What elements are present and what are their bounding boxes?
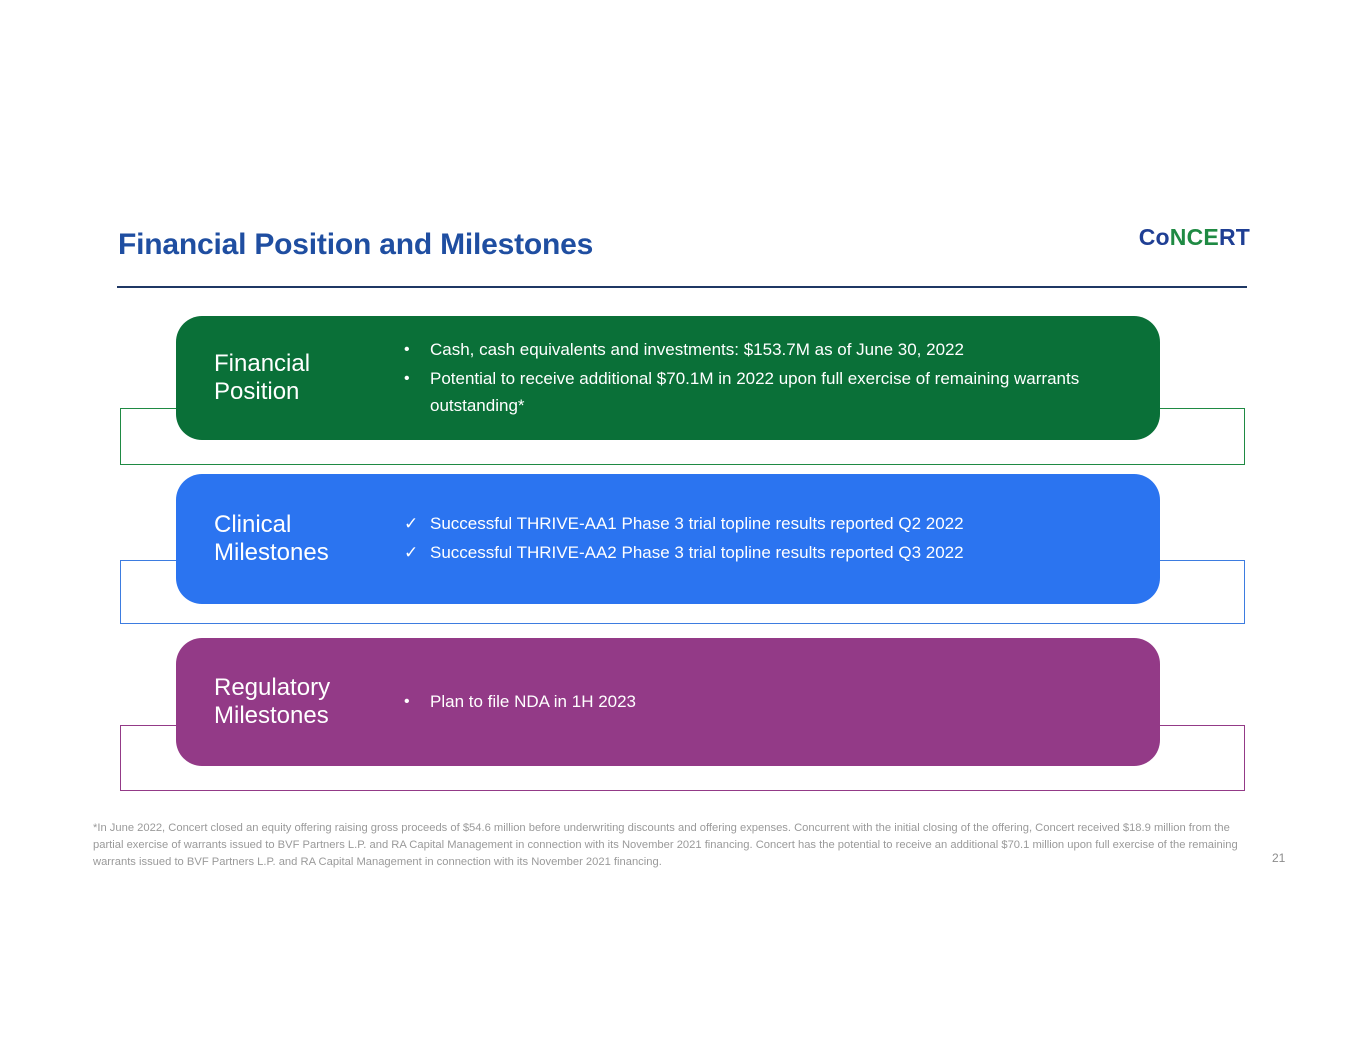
bullet-text: Successful THRIVE-AA1 Phase 3 trial topl… (430, 510, 1134, 537)
bullet-dot-icon: • (404, 688, 430, 715)
panel-card-regulatory-milestones: Regulatory Milestones • Plan to file NDA… (176, 638, 1160, 766)
list-item: ✓ Successful THRIVE-AA2 Phase 3 trial to… (404, 539, 1134, 566)
checkmark-icon: ✓ (404, 539, 430, 566)
panel-heading-financial-position: Financial Position (176, 350, 404, 406)
panel-card-financial-position: Financial Position • Cash, cash equivale… (176, 316, 1160, 440)
bullet-text: Potential to receive additional $70.1M i… (430, 365, 1134, 419)
panel-heading-line-2: Milestones (214, 702, 404, 730)
slide-canvas: Financial Position and Milestones CoNCER… (0, 0, 1365, 1055)
bullet-dot-icon: • (404, 336, 430, 363)
page-number: 21 (1272, 851, 1285, 865)
bullet-text: Successful THRIVE-AA2 Phase 3 trial topl… (430, 539, 1134, 566)
panel-heading-clinical-milestones: Clinical Milestones (176, 511, 404, 567)
panel-heading-regulatory-milestones: Regulatory Milestones (176, 674, 404, 730)
bullet-dot-icon: • (404, 365, 430, 392)
list-item: ✓ Successful THRIVE-AA1 Phase 3 trial to… (404, 510, 1134, 537)
checkmark-icon: ✓ (404, 510, 430, 537)
panel-heading-line-1: Financial (214, 350, 404, 378)
concert-logo: CoNCERT (1139, 224, 1250, 251)
list-item: • Cash, cash equivalents and investments… (404, 336, 1134, 363)
panel-body-financial-position: • Cash, cash equivalents and investments… (404, 336, 1160, 421)
logo-part-rt: RT (1219, 224, 1250, 250)
list-item: • Plan to file NDA in 1H 2023 (404, 688, 1134, 715)
panel-body-clinical-milestones: ✓ Successful THRIVE-AA1 Phase 3 trial to… (404, 510, 1160, 568)
title-divider (117, 286, 1247, 288)
bullet-text: Cash, cash equivalents and investments: … (430, 336, 1134, 363)
logo-part-co: Co (1139, 224, 1170, 250)
panel-heading-line-2: Milestones (214, 539, 404, 567)
panel-heading-line-1: Clinical (214, 511, 404, 539)
panel-heading-line-1: Regulatory (214, 674, 404, 702)
bullet-text: Plan to file NDA in 1H 2023 (430, 688, 1134, 715)
panel-card-clinical-milestones: Clinical Milestones ✓ Successful THRIVE-… (176, 474, 1160, 604)
list-item: • Potential to receive additional $70.1M… (404, 365, 1134, 419)
panel-body-regulatory-milestones: • Plan to file NDA in 1H 2023 (404, 688, 1160, 717)
page-title: Financial Position and Milestones (118, 228, 593, 262)
footnote: *In June 2022, Concert closed an equity … (93, 820, 1253, 871)
logo-part-nce: NCE (1170, 224, 1219, 250)
panel-heading-line-2: Position (214, 378, 404, 406)
